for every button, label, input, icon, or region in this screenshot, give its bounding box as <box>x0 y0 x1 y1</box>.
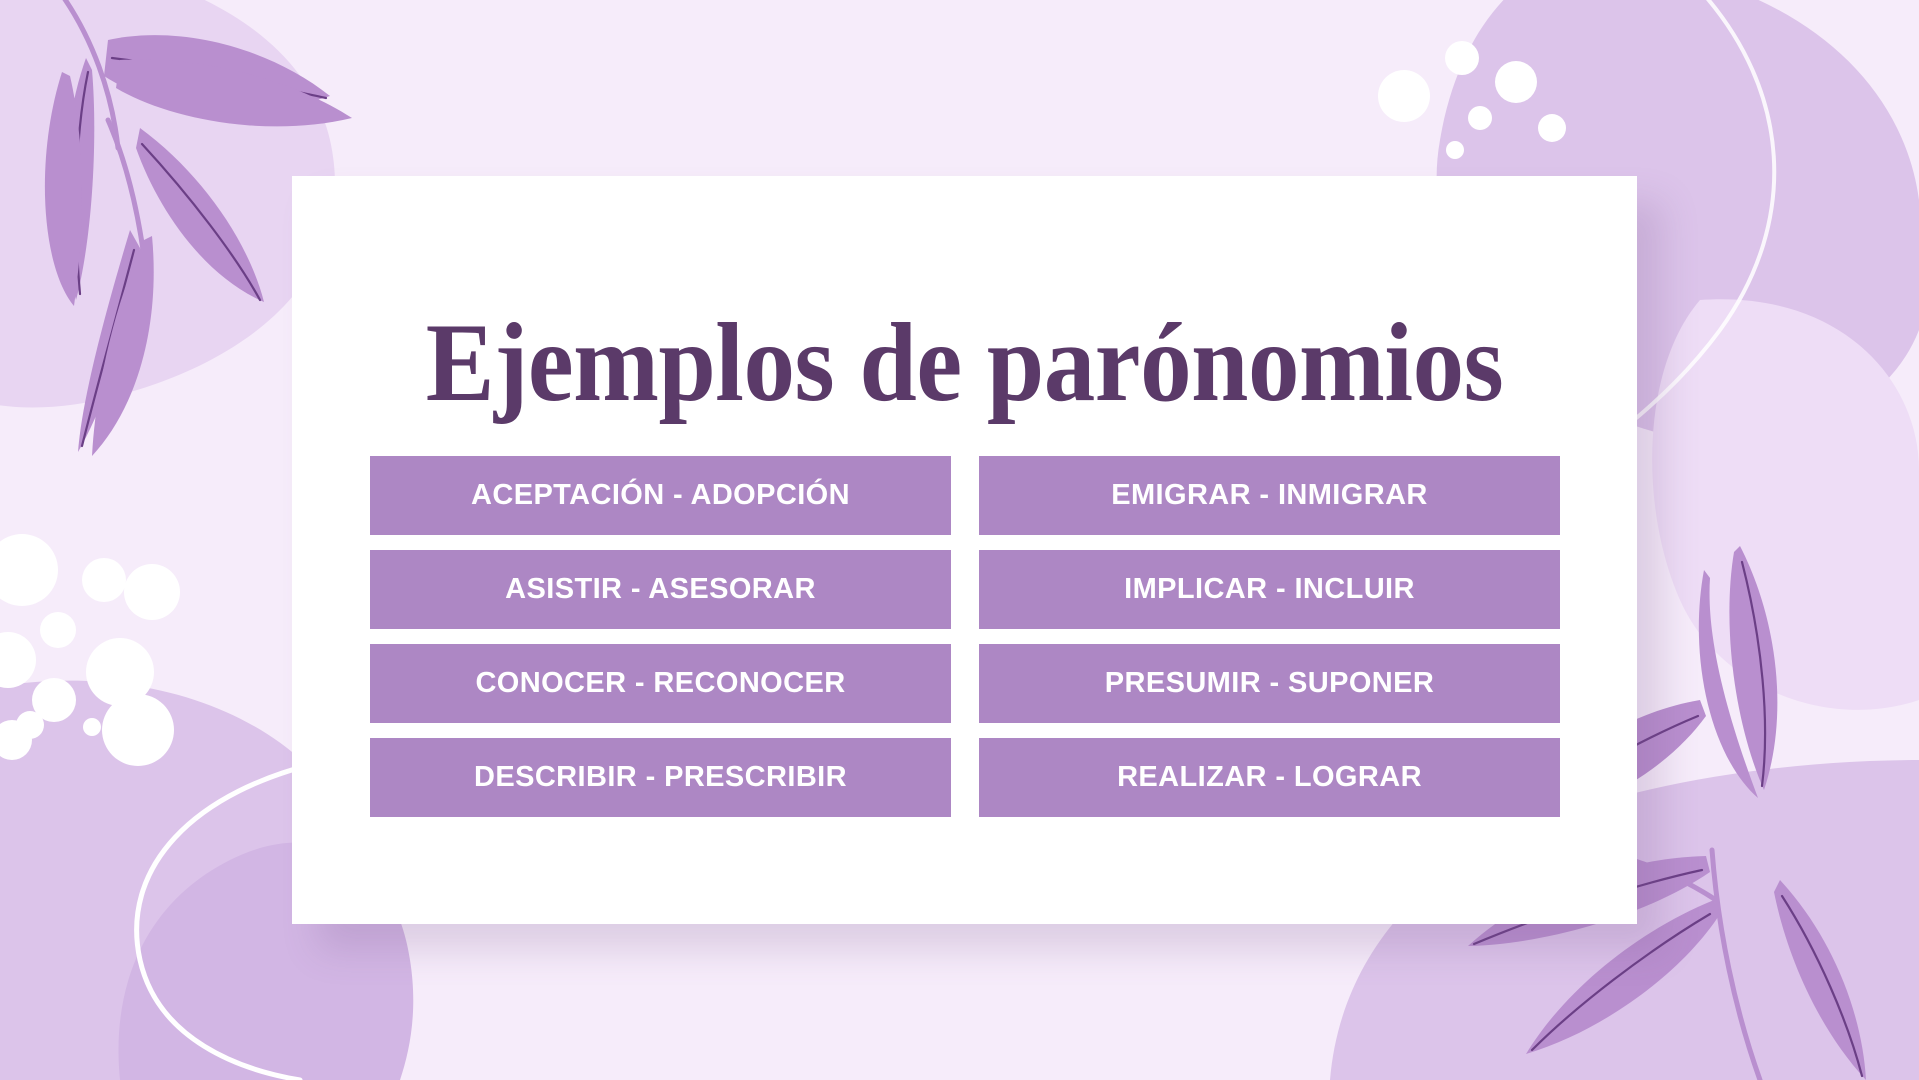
paronym-pill-asistir-asesorar[interactable]: ASISTIR - ASESORAR <box>370 550 951 629</box>
paronym-pill-describir-prescribir[interactable]: DESCRIBIR - PRESCRIBIR <box>370 738 951 817</box>
paronym-pill-conocer-reconocer[interactable]: CONOCER - RECONOCER <box>370 644 951 723</box>
content-card: Ejemplos de parónomios ACEPTACIÓN - ADOP… <box>292 176 1637 924</box>
paronym-pill-aceptacion-adopcion[interactable]: ACEPTACIÓN - ADOPCIÓN <box>370 456 951 535</box>
paronym-pill-realizar-lograr[interactable]: REALIZAR - LOGRAR <box>979 738 1560 817</box>
slide-canvas: Ejemplos de parónomios ACEPTACIÓN - ADOP… <box>0 0 1919 1080</box>
paronym-pill-emigrar-inmigrar[interactable]: EMIGRAR - INMIGRAR <box>979 456 1560 535</box>
page-title: Ejemplos de parónomios <box>346 303 1583 424</box>
paronym-pill-implicar-incluir[interactable]: IMPLICAR - INCLUIR <box>979 550 1560 629</box>
paronyms-grid: ACEPTACIÓN - ADOPCIÓN EMIGRAR - INMIGRAR… <box>370 456 1560 817</box>
paronym-pill-presumir-suponer[interactable]: PRESUMIR - SUPONER <box>979 644 1560 723</box>
